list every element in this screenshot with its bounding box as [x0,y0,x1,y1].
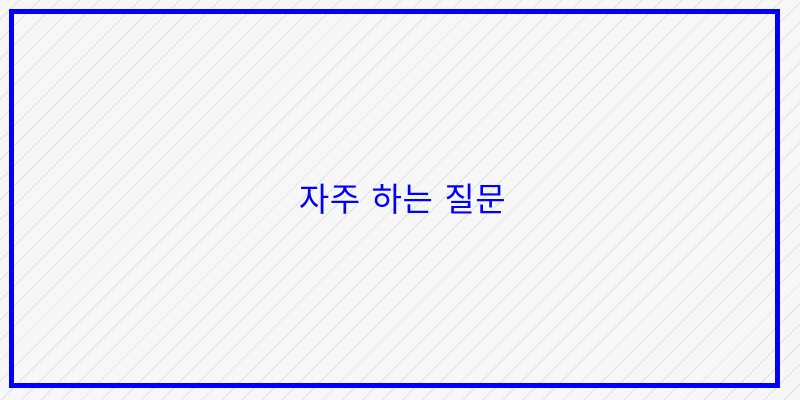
faq-panel: 자주 하는 질문 [9,9,780,388]
faq-heading: 자주 하는 질문 [299,183,506,216]
faq-panel-content: 자주 하는 질문 [14,14,775,383]
page-canvas: 자주 하는 질문 [0,0,800,400]
